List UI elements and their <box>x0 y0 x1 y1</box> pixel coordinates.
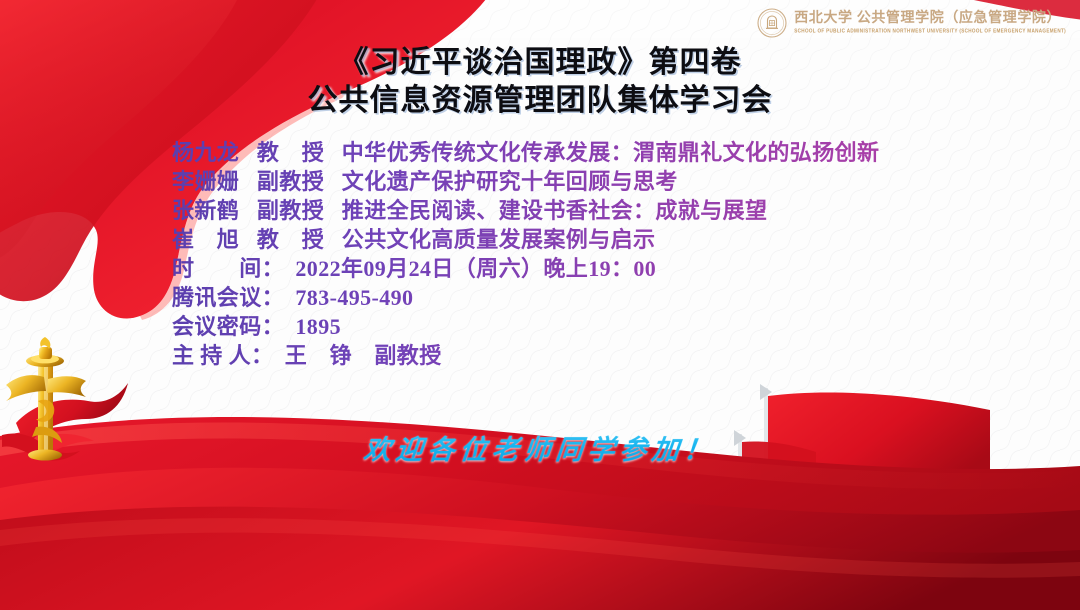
detail-line-meeting-id: 腾讯会议： 783-495-490 <box>172 283 879 312</box>
red-silk-waves-decoration <box>0 370 1080 610</box>
title-line-1: 《习近平谈治国理政》第四卷 <box>0 44 1080 82</box>
welcome-text: 欢迎各位老师同学参加！ <box>362 428 718 467</box>
logo-text-en: SCHOOL OF PUBLIC ADMINISTRATION NORTHWES… <box>794 29 1066 34</box>
poster-canvas: 西北大学 公共管理学院（应急管理学院） SCHOOL OF PUBLIC ADM… <box>0 0 1080 610</box>
university-logo: 西北大学 公共管理学院（应急管理学院） SCHOOL OF PUBLIC ADM… <box>757 8 1066 38</box>
speaker-line-3: 张新鹤 副教授 推进全民阅读、建设书香社会：成就与展望 <box>172 196 879 225</box>
detail-line-time: 时 间： 2022年09月24日（周六）晚上19：00 <box>172 254 879 283</box>
welcome-message: 欢迎各位老师同学参加！ <box>0 428 1080 467</box>
speaker-line-2: 李姗姗 副教授 文化遗产保护研究十年回顾与思考 <box>172 167 879 196</box>
page-title: 《习近平谈治国理政》第四卷 公共信息资源管理团队集体学习会 <box>0 44 1080 120</box>
detail-line-host: 主 持 人： 王 铮 副教授 <box>172 341 879 370</box>
university-seal-icon <box>757 8 787 38</box>
title-line-2: 公共信息资源管理团队集体学习会 <box>0 82 1080 120</box>
detail-line-password: 会议密码： 1895 <box>172 312 879 341</box>
logo-text-cn: 西北大学 公共管理学院（应急管理学院） <box>794 12 1066 26</box>
speaker-line-4: 崔 旭 教 授 公共文化高质量发展案例与启示 <box>172 225 879 254</box>
speaker-line-1: 杨九龙 教 授 中华优秀传统文化传承发展：渭南鼎礼文化的弘扬创新 <box>172 138 879 167</box>
content-block: 杨九龙 教 授 中华优秀传统文化传承发展：渭南鼎礼文化的弘扬创新 李姗姗 副教授… <box>172 138 879 370</box>
